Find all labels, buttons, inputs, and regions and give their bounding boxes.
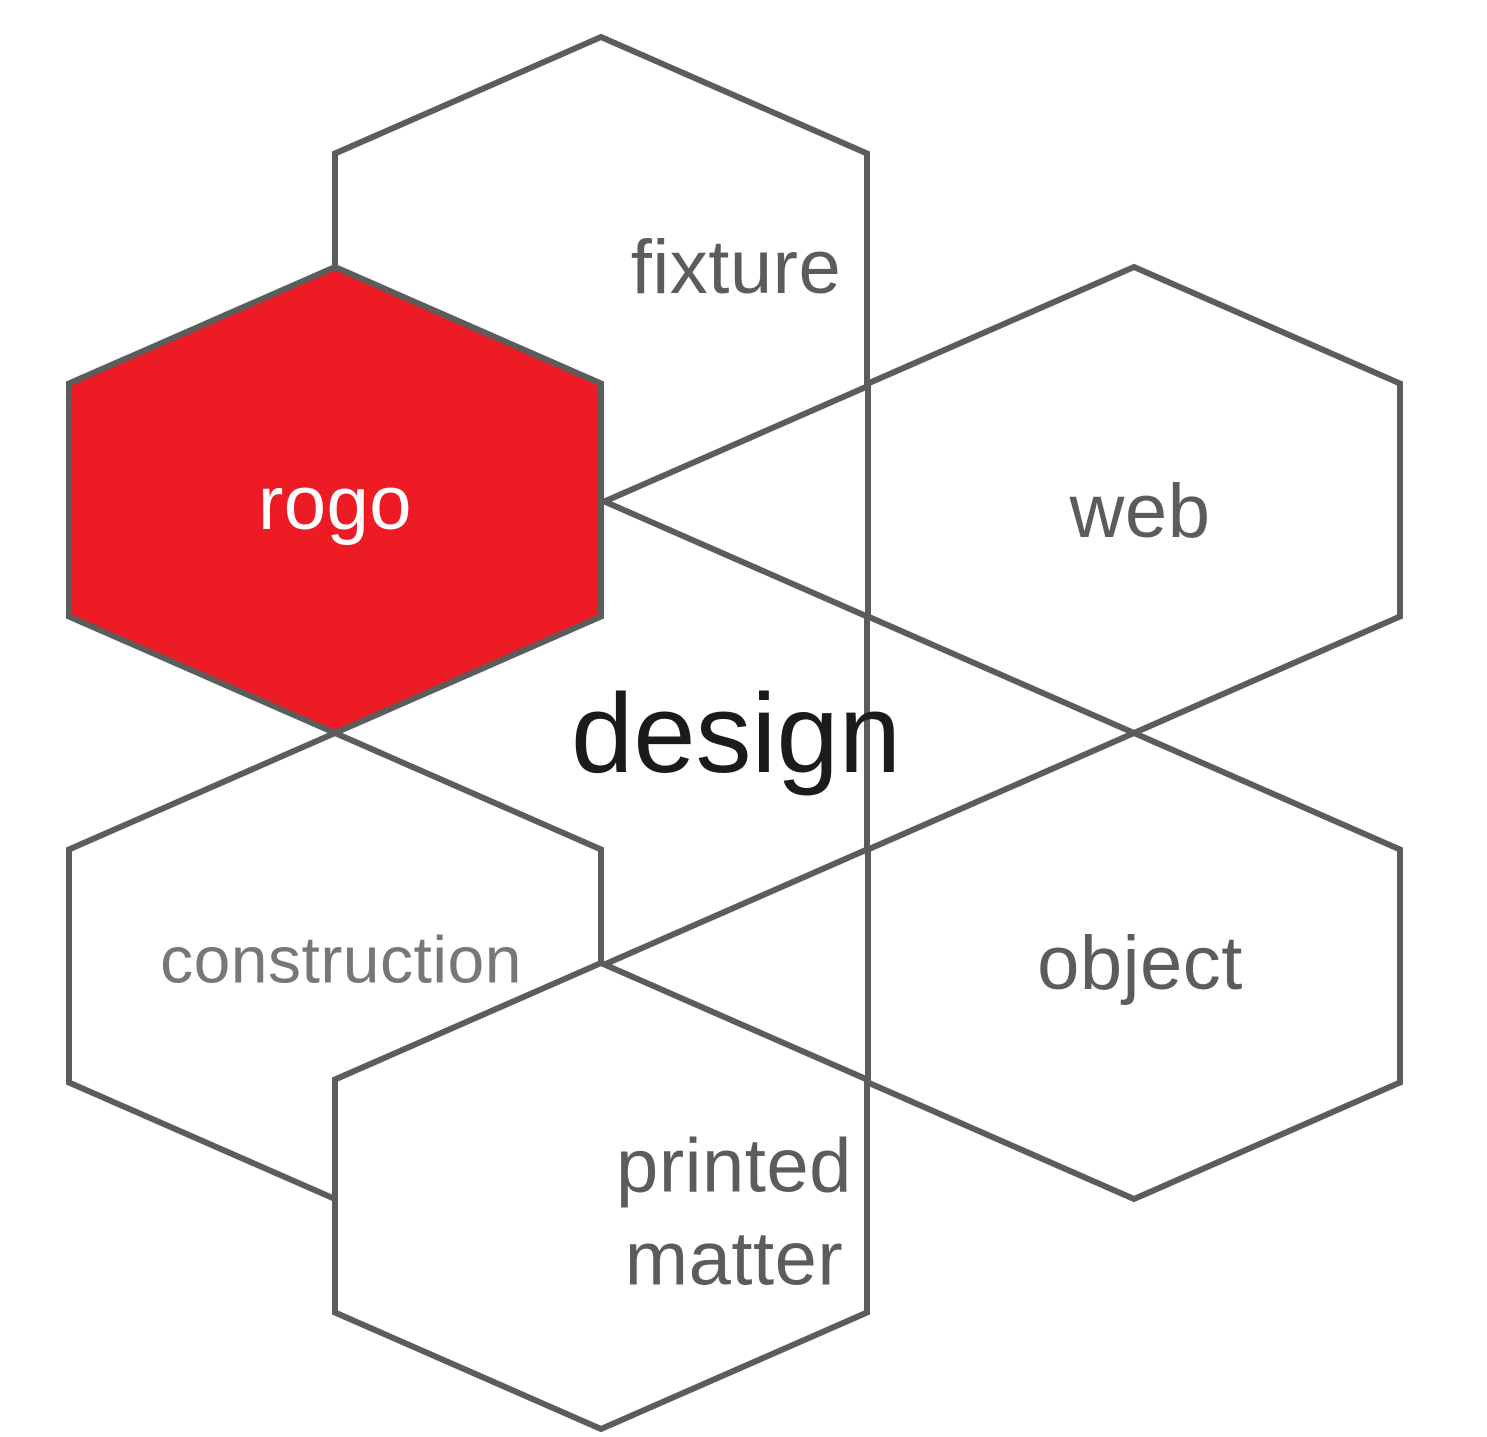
- hexagon-grid: [0, 0, 1487, 1437]
- hex-cell-web[interactable]: [868, 267, 1400, 733]
- hexagon-diagram: fixture rogo web design construction obj…: [0, 0, 1487, 1437]
- hex-cell-object[interactable]: [868, 733, 1400, 1199]
